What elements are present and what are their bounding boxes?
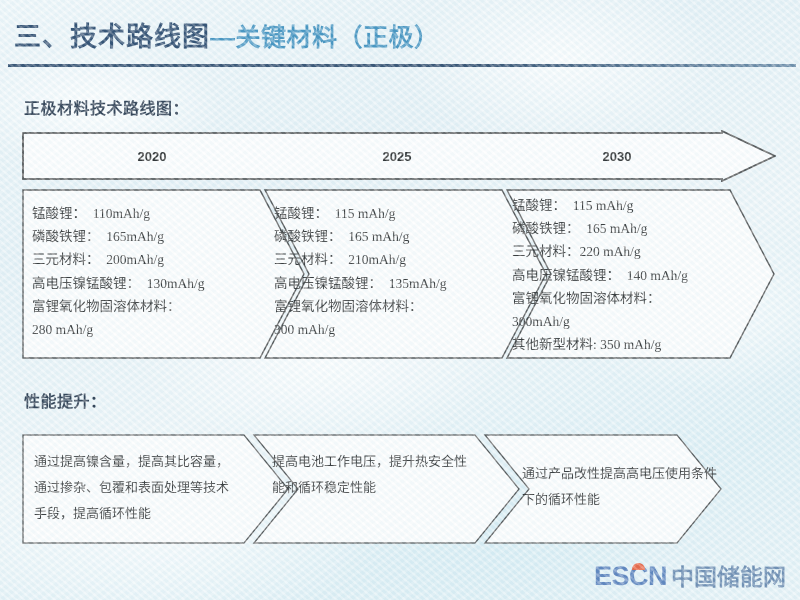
- escn-brand-text: ESCN: [594, 561, 667, 591]
- performance-chevron-band: 通过提高镍含量，提高其比容量，通过掺杂、包覆和表面处理等技术手段，提高循环性能 …: [22, 433, 776, 545]
- title-divider: [8, 64, 796, 67]
- timeline-year-2025: 2025: [282, 149, 512, 164]
- performance-text-3: 通过产品改性提高高电压使用条件下的循环性能: [522, 461, 722, 513]
- performance-text-2: 提高电池工作电压，提升热安全性能和循环稳定性能: [272, 449, 472, 501]
- roadmap-cell-2020: 锰酸锂： 110mAh/g 磷酸铁锂： 165mAh/g 三元材料： 200mA…: [32, 202, 247, 341]
- timeline-year-labels: 2020 2025 2030: [22, 130, 722, 182]
- slide-canvas: 三、技术路线图—关键材料（正极） 正极材料技术路线图： 2020 2025 20…: [0, 0, 800, 600]
- roadmap-section-label: 正极材料技术路线图：: [24, 95, 189, 119]
- performance-section-label: 性能提升：: [24, 388, 107, 412]
- page-title: 三、技术路线图—关键材料（正极）: [0, 18, 800, 54]
- roadmap-chevron-band: 锰酸锂： 110mAh/g 磷酸铁锂： 165mAh/g 三元材料： 200mA…: [22, 188, 776, 360]
- escn-accent-icon: [632, 563, 645, 570]
- page-title-sub: —关键材料（正极）: [210, 24, 440, 52]
- performance-text-1: 通过提高镍含量，提高其比容量，通过掺杂、包覆和表面处理等技术手段，提高循环性能: [34, 449, 238, 527]
- escn-chinese-name: 中国储能网: [671, 558, 786, 592]
- timeline-arrow: 2020 2025 2030: [22, 130, 776, 182]
- timeline-year-2020: 2020: [22, 149, 282, 164]
- roadmap-cell-2025: 锰酸锂： 115 mAh/g 磷酸铁锂： 165 mAh/g 三元材料： 210…: [274, 202, 489, 341]
- escn-wordmark: ESCN: [594, 561, 667, 592]
- timeline-year-2030: 2030: [512, 149, 722, 164]
- roadmap-cell-2030: 锰酸锂： 115 mAh/g 磷酸铁锂： 165 mAh/g 三元材料：220 …: [512, 194, 742, 357]
- escn-logo: ESCN 中国储能网: [594, 558, 786, 592]
- page-title-main: 三、技术路线图: [14, 22, 210, 52]
